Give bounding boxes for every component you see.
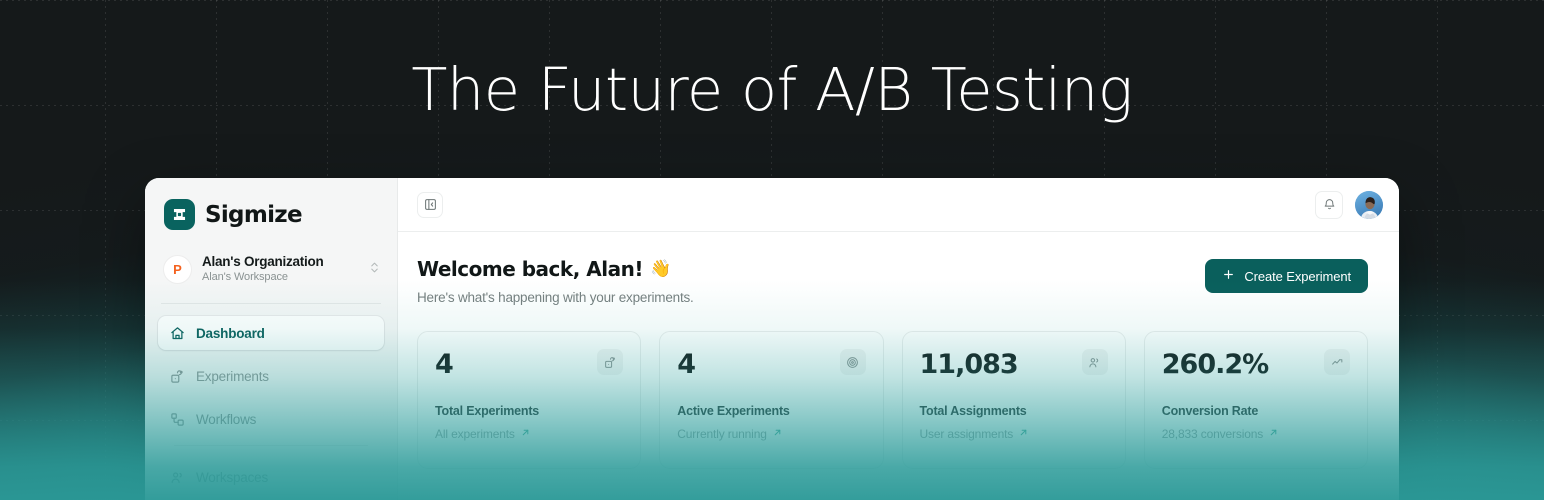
- create-experiment-label: Create Experiment: [1244, 269, 1351, 284]
- stat-card-conversion-rate[interactable]: 260.2% Conversion Rate 28,833 conversion…: [1144, 331, 1368, 469]
- org-workspace: Alan's Workspace: [202, 270, 358, 285]
- create-experiment-button[interactable]: Create Experiment: [1205, 259, 1368, 293]
- welcome-subtitle: Here's what's happening with your experi…: [417, 290, 694, 305]
- stat-foot-text: Currently running: [677, 427, 767, 441]
- stat-card-active-experiments[interactable]: 4 Active Experiments Currently running: [659, 331, 883, 469]
- arrow-up-right-icon: [1018, 427, 1029, 441]
- bell-icon[interactable]: [1315, 191, 1343, 219]
- stat-top: 11,083: [920, 349, 1108, 381]
- users-icon: [170, 470, 185, 485]
- sidebar: Sigmize P Alan's Organization Alan's Wor…: [145, 178, 398, 500]
- stat-top: 260.2%: [1162, 349, 1350, 381]
- stats-grid: 4 Total Experiments: [417, 331, 1368, 469]
- workflow-icon: [170, 412, 185, 427]
- sidebar-item-label: Workflows: [196, 412, 256, 427]
- arrow-up-right-icon: [520, 427, 531, 441]
- stat-value: 4: [435, 349, 453, 381]
- topbar-right: [1315, 191, 1383, 219]
- target-icon: [840, 349, 866, 375]
- stat-label: Conversion Rate: [1162, 404, 1350, 418]
- stat-foot: Currently running: [677, 427, 865, 441]
- stat-foot-text: All experiments: [435, 427, 515, 441]
- sidebar-item-workflows[interactable]: Workflows: [158, 402, 384, 436]
- app-window: Sigmize P Alan's Organization Alan's Wor…: [145, 178, 1399, 500]
- brand[interactable]: Sigmize: [145, 178, 397, 230]
- org-name: Alan's Organization: [202, 254, 358, 270]
- brand-name: Sigmize: [205, 202, 302, 228]
- arrow-up-right-icon: [772, 427, 783, 441]
- org-avatar: P: [163, 255, 192, 284]
- panel-left-close-icon[interactable]: [417, 192, 443, 218]
- stat-label: Total Assignments: [920, 404, 1108, 418]
- content: Welcome back, Alan! 👋 Here's what's happ…: [398, 232, 1399, 469]
- topbar: [398, 178, 1399, 232]
- page-root: The Future of A/B Testing Sigmize P Alan…: [0, 0, 1544, 500]
- welcome-title-text: Welcome back, Alan!: [417, 256, 643, 282]
- stat-top: 4: [435, 349, 623, 381]
- sidebar-item-label: Dashboard: [196, 326, 265, 341]
- org-switcher[interactable]: P Alan's Organization Alan's Workspace: [161, 250, 383, 289]
- sidebar-item-experiments[interactable]: Experiments: [158, 359, 384, 393]
- sidebar-nav: Dashboard Experiments: [145, 304, 397, 494]
- sidebar-nav-divider: [174, 445, 368, 446]
- welcome-block: Welcome back, Alan! 👋 Here's what's happ…: [417, 256, 694, 305]
- sidebar-item-workspaces[interactable]: Workspaces: [158, 460, 384, 494]
- trending-up-icon: [1324, 349, 1350, 375]
- sidebar-item-label: Workspaces: [196, 470, 268, 485]
- stat-value: 11,083: [920, 349, 1018, 381]
- plus-icon: [1222, 268, 1235, 284]
- stat-foot-text: 28,833 conversions: [1162, 427, 1263, 441]
- stat-foot: 28,833 conversions: [1162, 427, 1350, 441]
- stat-value: 260.2%: [1162, 349, 1268, 381]
- stat-label: Active Experiments: [677, 404, 865, 418]
- home-icon: [170, 326, 185, 341]
- stat-value: 4: [677, 349, 695, 381]
- sidebar-item-dashboard[interactable]: Dashboard: [158, 316, 384, 350]
- page-title: The Future of A/B Testing: [0, 56, 1544, 124]
- stat-card-total-experiments[interactable]: 4 Total Experiments: [417, 331, 641, 469]
- flask-icon: [170, 369, 185, 384]
- sigmize-logo-icon: [164, 199, 195, 230]
- waving-hand-icon: 👋: [650, 256, 671, 282]
- avatar[interactable]: [1355, 191, 1383, 219]
- flask-icon: [597, 349, 623, 375]
- welcome-title: Welcome back, Alan! 👋: [417, 256, 694, 282]
- stat-foot-text: User assignments: [920, 427, 1014, 441]
- org-text: Alan's Organization Alan's Workspace: [202, 254, 358, 285]
- stat-foot: All experiments: [435, 427, 623, 441]
- welcome-row: Welcome back, Alan! 👋 Here's what's happ…: [417, 256, 1368, 305]
- sidebar-item-label: Experiments: [196, 369, 269, 384]
- stat-label: Total Experiments: [435, 404, 623, 418]
- users-icon: [1082, 349, 1108, 375]
- stat-top: 4: [677, 349, 865, 381]
- main-area: Welcome back, Alan! 👋 Here's what's happ…: [398, 178, 1399, 500]
- chevrons-up-down-icon: [368, 261, 381, 279]
- stat-card-total-assignments[interactable]: 11,083 Total Assignments Us: [902, 331, 1126, 469]
- stat-foot: User assignments: [920, 427, 1108, 441]
- arrow-up-right-icon: [1268, 427, 1279, 441]
